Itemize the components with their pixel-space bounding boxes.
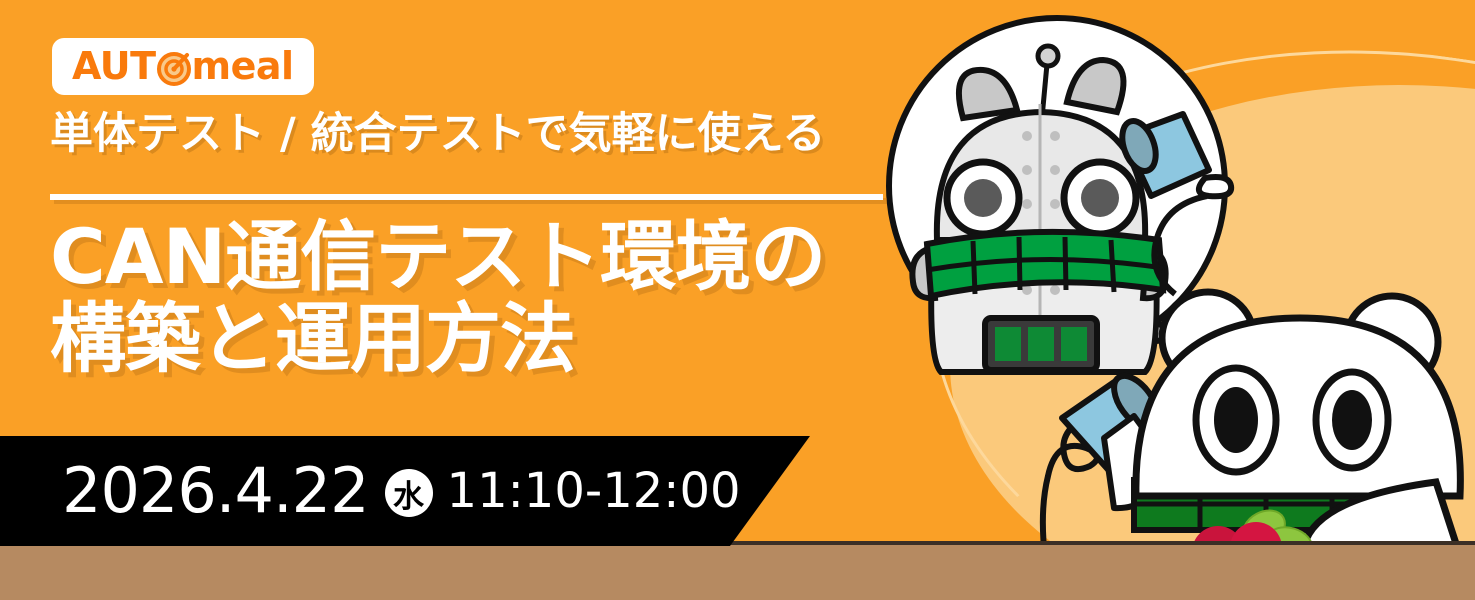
event-date: 2026.4.22	[62, 460, 369, 522]
banner-title: CAN通信テスト環境の 構築と運用方法	[50, 216, 825, 380]
bear-eye-right	[1316, 372, 1388, 468]
bear-eye-left	[1196, 368, 1276, 472]
headline-divider	[50, 194, 883, 200]
target-bullseye-icon	[157, 51, 191, 85]
logo-text-before: AUT	[72, 47, 156, 85]
weekday-badge: 水	[385, 469, 433, 517]
webinar-banner: AUT meal 単体テスト / 統合テストで気軽に使える CAN通信テスト環境…	[0, 0, 1475, 600]
schedule-row: 2026.4.22 水 11:10-12:00	[62, 455, 741, 527]
automeal-logo[interactable]: AUT meal	[52, 38, 314, 95]
event-time: 11:10-12:00	[447, 467, 741, 515]
robot-eye-left	[947, 162, 1019, 234]
banner-subtitle: 単体テスト / 統合テストで気軽に使える	[50, 113, 825, 156]
logo-text-after: meal	[192, 47, 294, 85]
robot-eye-right	[1064, 162, 1136, 234]
wooden-table-surface	[0, 545, 1475, 600]
